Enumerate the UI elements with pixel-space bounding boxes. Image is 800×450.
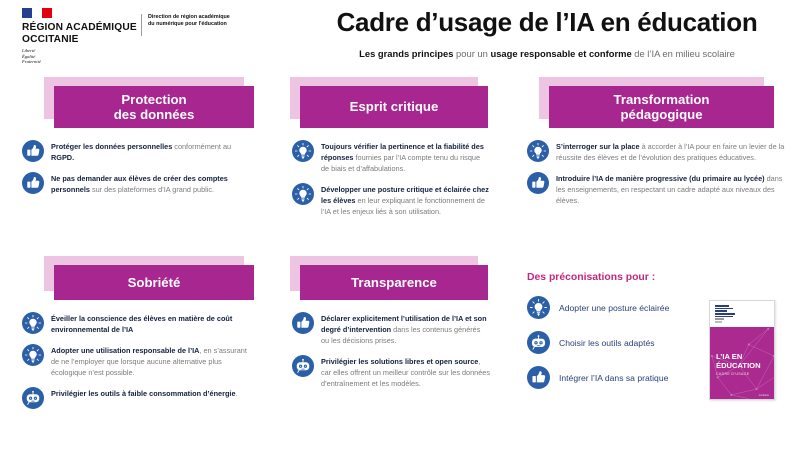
card-items-protection-des-donnees: Protéger les données personnelles confor… xyxy=(22,140,254,195)
lightbulb-icon xyxy=(292,183,314,205)
list-item-emphasis-2: RGPD. xyxy=(51,153,74,162)
card-items-transparence: Déclarer explicitement l’utilisation de … xyxy=(292,312,490,390)
list-item: Éveiller la conscience des élèves en mat… xyxy=(22,312,254,335)
french-flag-icon xyxy=(22,8,52,18)
lightbulb-icon xyxy=(22,344,44,366)
list-item-emphasis: Introduire l’IA de manière progressive (… xyxy=(556,174,765,183)
preconisation-label: Choisir les outils adaptés xyxy=(559,338,655,348)
lightbulb-icon xyxy=(527,140,549,162)
page-subtitle: Les grands principes pour un usage respo… xyxy=(300,48,794,59)
booklet-cover: L’IA EN ÉDUCATION CADRE D’USAGE occitani… xyxy=(710,327,774,400)
card-transformation-pedagogique: TransformationpédagogiqueS’interroger su… xyxy=(527,86,792,215)
list-item-text: Déclarer explicitement l’utilisation de … xyxy=(321,312,490,346)
logo-subtitle-line1: Direction de région académique xyxy=(148,14,268,21)
list-item: Protéger les données personnelles confor… xyxy=(22,140,254,163)
list-item-body: conformément au xyxy=(172,142,231,151)
preconisation-item: Choisir les outils adaptés xyxy=(527,331,702,354)
card-transparence: TransparenceDéclarer explicitement l’uti… xyxy=(292,265,490,399)
lightbulb-icon-wrapper xyxy=(292,140,314,162)
motto-fraternite: Fraternité xyxy=(22,59,137,65)
booklet-title-line1: L’IA EN xyxy=(716,352,761,361)
robot-icon xyxy=(292,355,314,377)
lightbulb-icon xyxy=(22,312,44,334)
subtitle-text-2: de l’IA en milieu scolaire xyxy=(632,48,735,59)
robot-icon xyxy=(527,331,550,354)
list-item-emphasis: Éveiller la conscience des élèves en mat… xyxy=(51,314,232,334)
preconisation-label: Adopter une posture éclairée xyxy=(559,303,669,313)
booklet-header xyxy=(710,301,774,327)
list-item: Adopter une utilisation responsable de l… xyxy=(22,344,254,378)
thumbs-up-icon xyxy=(22,140,44,162)
card-title-line1: Protection xyxy=(121,92,186,107)
preconisation-item: Adopter une posture éclairée xyxy=(527,296,702,319)
card-title-line2: des données xyxy=(114,107,195,122)
card-title-line1: Esprit critique xyxy=(350,99,439,114)
preconisations-panel: Des préconisations pour : Adopter une po… xyxy=(527,272,792,427)
robot-icon-wrapper xyxy=(292,355,314,377)
infographic-page: RÉGION ACADÉMIQUE OCCITANIE Liberté Égal… xyxy=(0,0,800,450)
card-title-line2: pédagogique xyxy=(620,107,702,122)
list-item-text: Développer une posture critique et éclai… xyxy=(321,183,490,217)
card-title: Protectiondes données xyxy=(114,92,195,123)
card-title: Sobriété xyxy=(128,275,181,291)
booklet-footer: occitanie xyxy=(759,394,769,397)
thumbs-up-icon xyxy=(292,312,314,334)
list-item-text: Privilégier les outils à faible consomma… xyxy=(51,387,238,399)
card-title: Transformationpédagogique xyxy=(614,92,710,123)
list-item-emphasis: Privilégier les solutions libres et open… xyxy=(321,357,478,366)
card-header-bar: Transformationpédagogique xyxy=(549,86,774,128)
list-item-text: Privilégier les solutions libres et open… xyxy=(321,355,490,389)
lightbulb-icon xyxy=(527,296,550,319)
card-header-sobriete: Sobriété xyxy=(54,265,254,300)
list-item-text: Introduire l’IA de manière progressive (… xyxy=(556,172,792,206)
preconisation-item: Intégrer l’IA dans sa pratique xyxy=(527,366,702,389)
list-item-emphasis: Adopter une utilisation responsable de l… xyxy=(51,346,199,355)
list-item-body: . xyxy=(236,389,238,398)
lightbulb-icon-wrapper xyxy=(292,183,314,205)
subtitle-text-1: pour un xyxy=(453,48,490,59)
subtitle-bold-2: usage responsable et conforme xyxy=(490,48,631,59)
robot-icon xyxy=(22,387,44,409)
preconisations-list: Adopter une posture éclairéeChoisir les … xyxy=(527,296,702,389)
card-header-bar: Sobriété xyxy=(54,265,254,300)
thumbs-up-icon-wrapper xyxy=(527,366,550,389)
booklet-title: L’IA EN ÉDUCATION xyxy=(716,352,761,370)
card-header-bar: Transparence xyxy=(300,265,488,300)
list-item-text: S’interroger sur la place à accorder à l… xyxy=(556,140,792,163)
list-item-emphasis: S’interroger sur la place xyxy=(556,142,640,151)
list-item-body: sur des plateformes d’IA grand public. xyxy=(90,185,214,194)
list-item: Ne pas demander aux élèves de créer des … xyxy=(22,172,254,195)
card-title: Transparence xyxy=(351,275,437,291)
list-item: Introduire l’IA de manière progressive (… xyxy=(527,172,792,206)
logo-subtitle: Direction de région académique du numéri… xyxy=(148,14,268,28)
thumbs-up-icon-wrapper xyxy=(292,312,314,334)
card-header-bar: Esprit critique xyxy=(300,86,488,128)
card-title-line1: Transparence xyxy=(351,275,437,290)
thumbs-up-icon xyxy=(527,172,549,194)
card-header-transparence: Transparence xyxy=(300,265,488,300)
robot-icon-wrapper xyxy=(22,387,44,409)
lightbulb-icon-wrapper xyxy=(22,344,44,366)
thumbs-up-icon-wrapper xyxy=(22,140,44,162)
thumbs-up-icon xyxy=(22,172,44,194)
list-item-text: Ne pas demander aux élèves de créer des … xyxy=(51,172,254,195)
list-item-text: Protéger les données personnelles confor… xyxy=(51,140,254,163)
list-item-emphasis: Protéger les données personnelles xyxy=(51,142,172,151)
lightbulb-icon xyxy=(292,140,314,162)
list-item-text: Éveiller la conscience des élèves en mat… xyxy=(51,312,254,335)
thumbs-up-icon-wrapper xyxy=(527,172,549,194)
logo-subtitle-line2: du numérique pour l'éducation xyxy=(148,21,268,28)
card-items-transformation-pedagogique: S’interroger sur la place à accorder à l… xyxy=(527,140,792,206)
list-item: Privilégier les outils à faible consomma… xyxy=(22,387,254,409)
lightbulb-icon-wrapper xyxy=(22,312,44,334)
thumbs-up-icon-wrapper xyxy=(22,172,44,194)
lightbulb-icon-wrapper xyxy=(527,140,549,162)
region-academique-logo: RÉGION ACADÉMIQUE OCCITANIE Liberté Égal… xyxy=(22,8,137,65)
list-item: S’interroger sur la place à accorder à l… xyxy=(527,140,792,163)
booklet-title-line2: ÉDUCATION xyxy=(716,361,761,370)
list-item: Développer une posture critique et éclai… xyxy=(292,183,490,217)
republic-motto: Liberté Égalité Fraternité xyxy=(22,48,137,65)
list-item-text: Toujours vérifier la pertinence et la fi… xyxy=(321,140,490,174)
robot-icon-wrapper xyxy=(527,331,550,354)
card-title-line1: Transformation xyxy=(614,92,710,107)
card-header-transformation-pedagogique: Transformationpédagogique xyxy=(549,86,774,128)
card-items-esprit-critique: Toujours vérifier la pertinence et la fi… xyxy=(292,140,490,218)
logo-name-line2: OCCITANIE xyxy=(22,34,137,46)
logo-divider xyxy=(141,14,142,36)
lightbulb-icon-wrapper xyxy=(527,296,550,319)
card-header-esprit-critique: Esprit critique xyxy=(300,86,488,128)
card-sobriete: SobriétéÉveiller la conscience des élève… xyxy=(22,265,254,418)
list-item-emphasis: Privilégier les outils à faible consomma… xyxy=(51,389,236,398)
card-esprit-critique: Esprit critiqueToujours vérifier la pert… xyxy=(292,86,490,227)
booklet-thumbnail[interactable]: L’IA EN ÉDUCATION CADRE D’USAGE occitani… xyxy=(709,300,775,400)
preconisations-title: Des préconisations pour : xyxy=(527,272,792,283)
list-item: Privilégier les solutions libres et open… xyxy=(292,355,490,389)
page-title: Cadre d’usage de l’IA en éducation xyxy=(300,7,794,38)
list-item-text: Adopter une utilisation responsable de l… xyxy=(51,344,254,378)
preconisation-label: Intégrer l’IA dans sa pratique xyxy=(559,373,668,383)
list-item: Toujours vérifier la pertinence et la fi… xyxy=(292,140,490,174)
list-item: Déclarer explicitement l’utilisation de … xyxy=(292,312,490,346)
logo-name-line1: RÉGION ACADÉMIQUE xyxy=(22,22,137,34)
card-protection-des-donnees: Protectiondes donnéesProtéger les donnée… xyxy=(22,86,254,204)
card-header-protection-des-donnees: Protectiondes données xyxy=(54,86,254,128)
card-items-sobriete: Éveiller la conscience des élèves en mat… xyxy=(22,312,254,409)
thumbs-up-icon xyxy=(527,366,550,389)
card-title: Esprit critique xyxy=(350,99,439,115)
logo-name: RÉGION ACADÉMIQUE OCCITANIE xyxy=(22,22,137,45)
booklet-subtitle: CADRE D’USAGE xyxy=(716,372,749,376)
card-header-bar: Protectiondes données xyxy=(54,86,254,128)
card-title-line1: Sobriété xyxy=(128,275,181,290)
page-header: RÉGION ACADÉMIQUE OCCITANIE Liberté Égal… xyxy=(0,0,800,72)
subtitle-bold-1: Les grands principes xyxy=(359,48,453,59)
